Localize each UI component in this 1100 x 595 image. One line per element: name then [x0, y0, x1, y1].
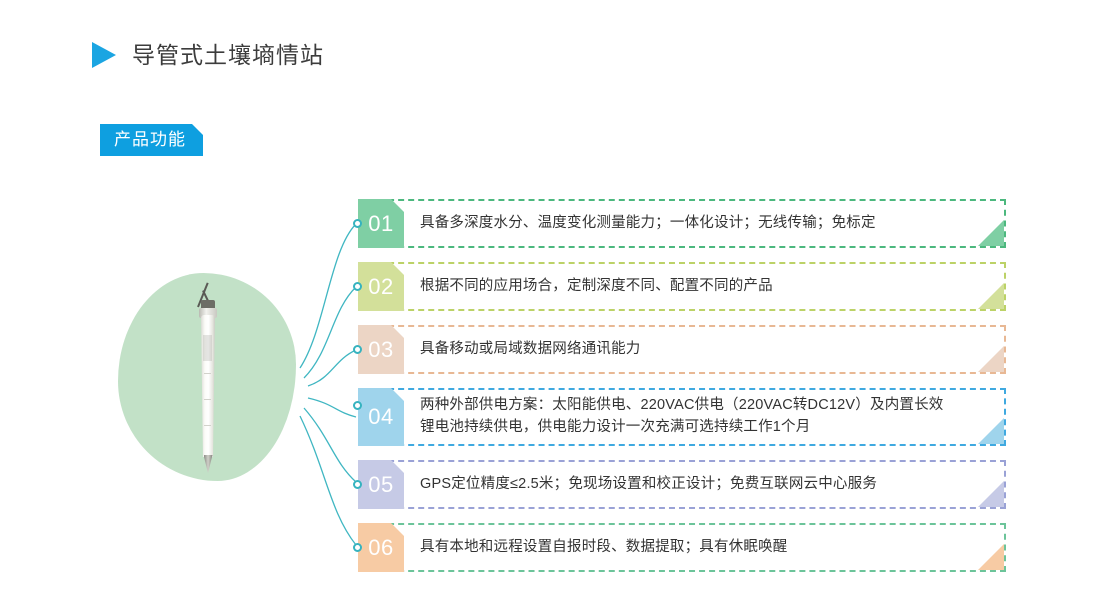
feature-number-badge: 03 [358, 325, 404, 374]
product-illustration [118, 265, 328, 500]
probe-tip [204, 455, 213, 473]
feature-text-line: 两种外部供电方案：太阳能供电、220VAC供电（220VAC转DC12V）及内置… [420, 395, 992, 417]
feature-card[interactable]: 03具备移动或局域数据网络通讯能力 [358, 325, 1006, 374]
feature-text: 具备移动或局域数据网络通讯能力 [404, 325, 1006, 374]
probe-mark [204, 373, 211, 374]
feature-card[interactable]: 05GPS定位精度≤2.5米；免现场设置和校正设计；免费互联网云中心服务 [358, 460, 1006, 509]
feature-text: 具有本地和远程设置自报时段、数据提取；具有休眠唤醒 [404, 523, 1006, 572]
feature-text: 根据不同的应用场合，定制深度不同、配置不同的产品 [404, 262, 1006, 311]
feature-text-line: 锂电池持续供电，供电能力设计一次充满可选持续工作1个月 [420, 417, 992, 439]
feature-list: 01具备多深度水分、温度变化测量能力；一体化设计；无线传输；免标定02根据不同的… [358, 199, 1006, 572]
connector-node-dot [353, 480, 362, 489]
feature-card[interactable]: 04两种外部供电方案：太阳能供电、220VAC供电（220VAC转DC12V）及… [358, 388, 1006, 446]
page-header: 导管式土壤墒情站 [92, 42, 324, 68]
play-triangle-icon [92, 42, 116, 68]
feature-card[interactable]: 06具有本地和远程设置自报时段、数据提取；具有休眠唤醒 [358, 523, 1006, 572]
feature-card[interactable]: 02根据不同的应用场合，定制深度不同、配置不同的产品 [358, 262, 1006, 311]
feature-number-badge: 01 [358, 199, 404, 248]
connector-node-dot [353, 543, 362, 552]
probe-mark [204, 399, 211, 400]
feature-card[interactable]: 01具备多深度水分、温度变化测量能力；一体化设计；无线传输；免标定 [358, 199, 1006, 248]
soil-probe-device [192, 287, 222, 477]
feature-text-line: 具备多深度水分、温度变化测量能力；一体化设计；无线传输；免标定 [420, 213, 992, 235]
feature-text: GPS定位精度≤2.5米；免现场设置和校正设计；免费互联网云中心服务 [404, 460, 1006, 509]
feature-number-badge: 02 [358, 262, 404, 311]
page-title: 导管式土壤墒情站 [132, 44, 324, 67]
connector-node-dot [353, 282, 362, 291]
probe-label [203, 335, 212, 361]
connector-node-dot [353, 401, 362, 410]
feature-number-badge: 05 [358, 460, 404, 509]
feature-text-line: 根据不同的应用场合，定制深度不同、配置不同的产品 [420, 276, 992, 298]
feature-text-line: GPS定位精度≤2.5米；免现场设置和校正设计；免费互联网云中心服务 [420, 474, 992, 496]
probe-mark [204, 425, 211, 426]
feature-text: 两种外部供电方案：太阳能供电、220VAC供电（220VAC转DC12V）及内置… [404, 388, 1006, 446]
feature-number-badge: 04 [358, 388, 404, 446]
feature-text-line: 具备移动或局域数据网络通讯能力 [420, 339, 992, 361]
feature-text-line: 具有本地和远程设置自报时段、数据提取；具有休眠唤醒 [420, 537, 992, 559]
connector-node-dot [353, 345, 362, 354]
feature-text: 具备多深度水分、温度变化测量能力；一体化设计；无线传输；免标定 [404, 199, 1006, 248]
section-badge: 产品功能 [100, 124, 203, 156]
connector-node-dot [353, 219, 362, 228]
feature-number-badge: 06 [358, 523, 404, 572]
